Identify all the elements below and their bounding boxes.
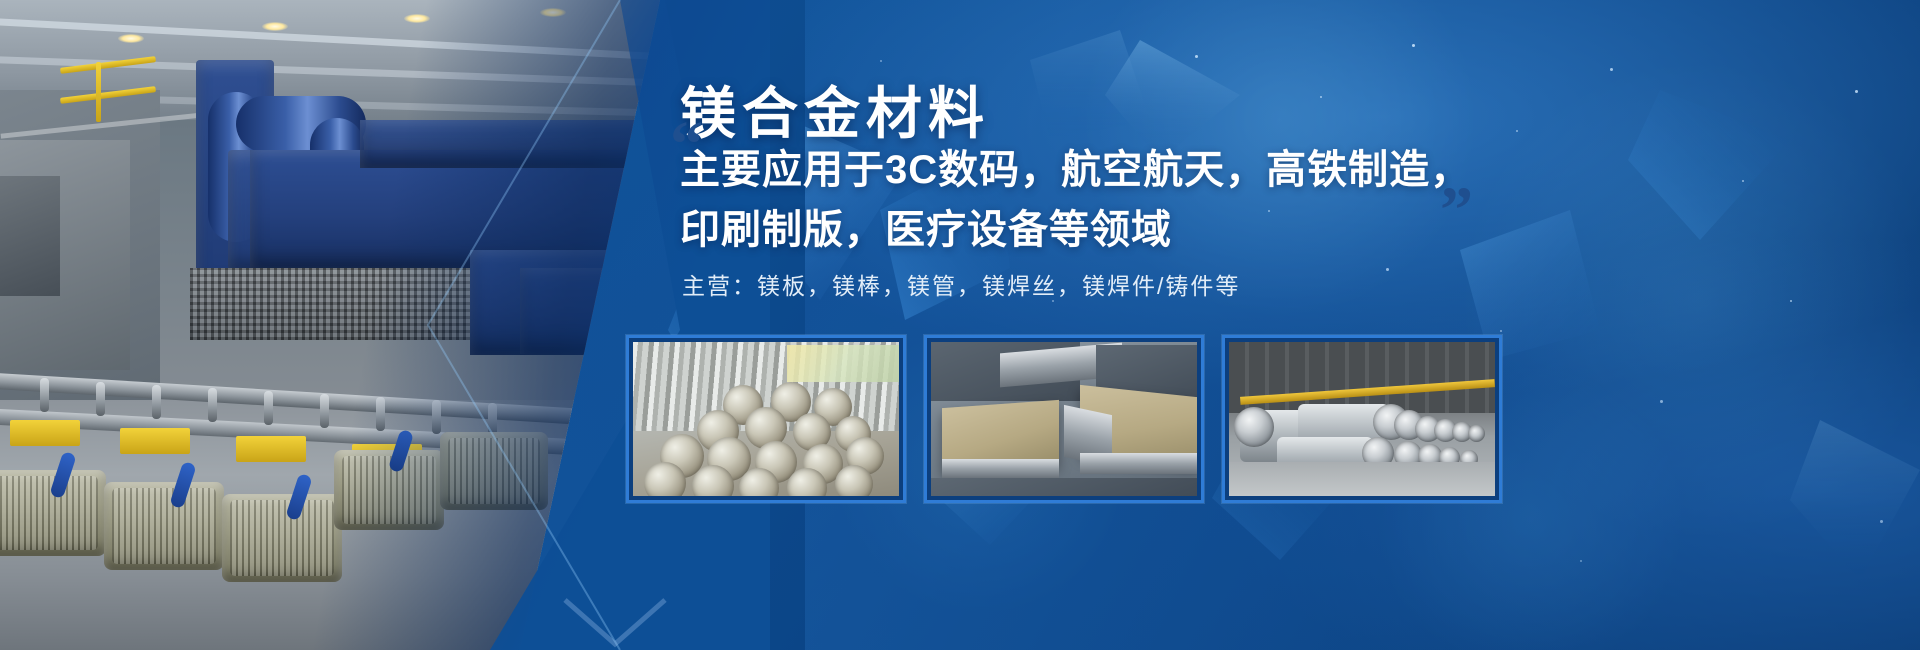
magnesium-rods-thumbnail[interactable] — [626, 335, 906, 503]
magnesium-alloy-banner: 镁合金材料 “ 主要应用于3C数码，航空航天，高铁制造， 印刷制版，医疗设备等领… — [0, 0, 1920, 650]
quote-line-1: 主要应用于3C数码，航空航天，高铁制造， — [680, 140, 1560, 200]
magnesium-coils-thumbnail[interactable] — [1222, 335, 1502, 503]
quote-block: “ 主要应用于3C数码，航空航天，高铁制造， 印刷制版，医疗设备等领域 ” — [680, 140, 1560, 260]
quote-line-2: 印刷制版，医疗设备等领域 — [680, 200, 1560, 260]
magnesium-rods-image — [633, 342, 899, 496]
magnesium-plates-image — [931, 342, 1197, 496]
magnesium-plates-thumbnail[interactable] — [924, 335, 1204, 503]
quote-open-mark: “ — [670, 112, 703, 178]
banner-content: 镁合金材料 “ 主要应用于3C数码，航空航天，高铁制造， 印刷制版，医疗设备等领… — [660, 0, 1920, 650]
chevron-down-icon — [555, 594, 675, 650]
bright-glint — [787, 345, 899, 382]
subtitle-product-list: 主营：镁板，镁棒，镁管，镁焊丝，镁焊件/铸件等 — [682, 270, 1240, 302]
product-thumbnail-strip — [626, 335, 1806, 503]
magnesium-coils-image — [1229, 342, 1495, 496]
warehouse-floor — [1229, 462, 1495, 496]
page-title: 镁合金材料 — [680, 86, 990, 142]
quote-close-mark: ” — [1440, 178, 1473, 244]
